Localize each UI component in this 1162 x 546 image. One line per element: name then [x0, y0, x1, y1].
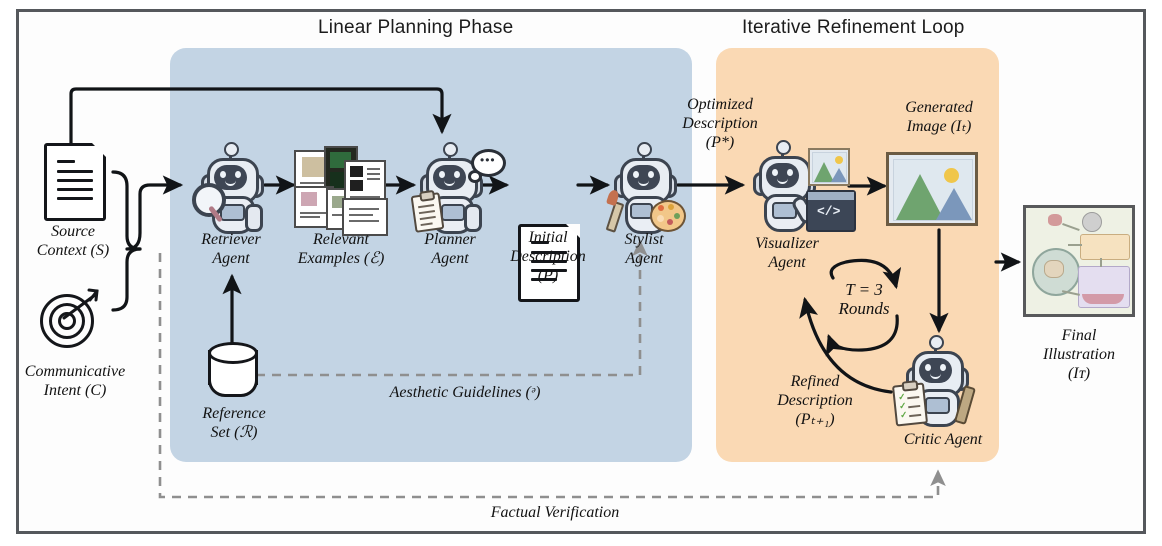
robot-eye-right [648, 171, 654, 178]
label-retriever-agent: Retriever Agent [176, 230, 286, 268]
label-source-context: Source Context (S) [10, 222, 136, 260]
label-initial-description: Initial Description (P) [492, 228, 604, 285]
clipboard-line [907, 396, 919, 399]
robot-antenna-ball [929, 335, 944, 350]
palette-dot [674, 213, 680, 219]
clipboard-line [420, 216, 436, 220]
label-generated-image: Generated Image (Iₜ) [880, 98, 998, 136]
palette-thumb-hole [657, 215, 664, 222]
robot-screen-icon-visualizer-agent: </> [748, 140, 852, 236]
code-window-titlebar [808, 192, 854, 200]
paper-line [349, 220, 379, 222]
doc-line [57, 188, 93, 191]
title-linear-planning-phase: Linear Planning Phase [318, 17, 513, 39]
paintbrush-handle [606, 201, 625, 233]
palette-icon [650, 200, 686, 232]
robot-palette-icon-stylist-agent [602, 142, 690, 234]
database-band [208, 380, 258, 397]
paper-line [300, 212, 326, 214]
figure-canvas: Linear Planning Phase Iterative Refineme… [0, 0, 1162, 546]
clipboard-line [421, 222, 433, 226]
clipboard-line [909, 414, 921, 417]
illustration-thumbnail-icon-final-illustration [1023, 205, 1135, 317]
robot-eye-right [940, 364, 946, 371]
label-visualizer-agent: Visualizer Agent [734, 234, 840, 272]
label-relevant-examples: Relevant Examples (ℰ) [282, 230, 400, 268]
illustration-receptor [1048, 214, 1062, 226]
doc-line [57, 179, 93, 182]
database-top [208, 342, 258, 364]
robot-pen-clipboard-icon-critic-agent: ✓ ✓ ✓ [890, 336, 994, 432]
paper-line [349, 214, 373, 216]
illustration-connector [1100, 258, 1102, 267]
thought-bubble-tail [468, 170, 482, 183]
paper-line [367, 178, 380, 180]
clipboard-icon [411, 192, 445, 233]
clipboard-line [908, 405, 920, 408]
illustration-nucleus [1044, 260, 1064, 278]
illustration-panel-orange [1080, 234, 1130, 260]
label-aesthetic-guidelines: Aesthetic Guidelines (ᵊ) [300, 383, 630, 402]
picture-canvas [893, 159, 973, 221]
sun-shape [944, 168, 959, 183]
checkmark-icon: ✓ [900, 409, 909, 421]
clipboard-line [418, 204, 434, 208]
picture-canvas [812, 152, 847, 183]
thought-bubble-dots: ••• [480, 153, 496, 167]
palette-dot [658, 205, 664, 211]
robot-chest-screen [925, 397, 950, 414]
palette-dot [667, 219, 673, 225]
magnifier-icon [192, 183, 226, 217]
label-final-illustration: Final Illustration (Iᴛ) [1018, 326, 1140, 383]
clipboard-line [419, 210, 435, 214]
clipboard-icon: ✓ ✓ ✓ [892, 382, 928, 426]
palette-dot [668, 204, 674, 210]
robot-eye-left [633, 171, 639, 178]
clipboard-clip [902, 380, 919, 392]
sun-shape [835, 156, 843, 164]
target-icon-communicative-intent [38, 288, 108, 350]
label-planner-agent: Planner Agent [398, 230, 502, 268]
robot-eye-right [235, 171, 241, 178]
robot-antenna-ball [776, 140, 791, 155]
illustration-sphere [1082, 212, 1102, 232]
robot-eye-left [772, 169, 778, 176]
mountain-shape-blue [936, 188, 972, 220]
illustration-connector [1068, 244, 1082, 246]
robot-eye-right [454, 171, 460, 178]
mountain-shape-blue [831, 168, 847, 182]
robot-eye-left [220, 171, 226, 178]
robot-chest-screen [441, 204, 465, 221]
robot-magnifier-icon-retriever-agent [188, 142, 272, 234]
robot-clipboard-icon-planner-agent: ••• [408, 142, 500, 234]
robot-antenna-ball [224, 142, 239, 157]
label-stylist-agent: Stylist Agent [592, 230, 696, 268]
paper-line [300, 216, 320, 218]
code-tag-glyph: </> [817, 204, 840, 219]
picture-icon-preview [808, 148, 850, 186]
database-icon-reference-set [206, 340, 260, 402]
robot-eye-left [925, 364, 931, 371]
label-reference-set: Reference Set (ℛ) [180, 404, 288, 442]
title-iterative-refinement-loop: Iterative Refinement Loop [742, 17, 965, 39]
robot-eye-right [787, 169, 793, 176]
paper-line [367, 168, 380, 170]
label-critic-agent: Critic Agent [878, 430, 1008, 449]
doc-line [57, 170, 93, 173]
illustration-connector [1062, 223, 1079, 231]
robot-antenna-ball [443, 142, 458, 157]
picture-icon-generated-image [886, 152, 978, 226]
code-window-icon: </> [806, 190, 856, 232]
label-factual-verification: Factual Verification [410, 503, 700, 522]
illustration-membrane [1082, 294, 1124, 304]
label-loop-rounds: T = 3 Rounds [824, 280, 904, 318]
label-refined-description: Refined Description (Pₜ₊₁) [750, 372, 880, 429]
robot-antenna-ball [637, 142, 652, 157]
robot-arm-right [245, 204, 263, 232]
clipboard-clip [419, 190, 435, 202]
paper-line [349, 208, 379, 210]
paper-line [367, 173, 380, 175]
stacked-papers-icon-relevant-examples [292, 142, 386, 234]
document-icon-source-context [44, 143, 106, 221]
robot-eye-left [439, 171, 445, 178]
doc-line [57, 197, 93, 200]
paper-line [300, 182, 326, 184]
doc-line [57, 160, 75, 163]
label-communicative-intent: Communicative Intent (C) [0, 362, 150, 400]
robot-arm-right [464, 204, 482, 232]
doc-fold [92, 143, 106, 157]
